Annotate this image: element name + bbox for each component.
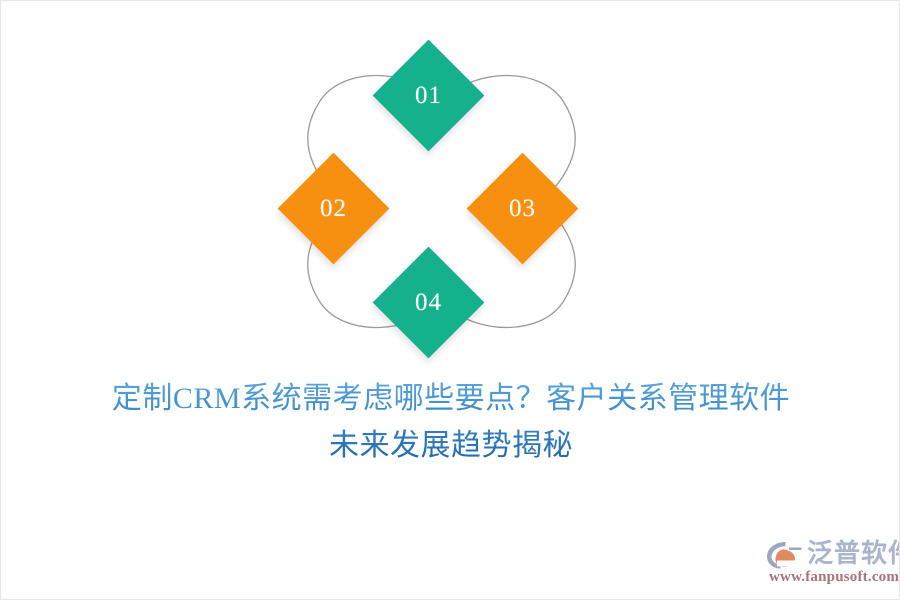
diamond-node-04-label: 04 (415, 290, 442, 315)
logo-brand-name: 泛普软件 (807, 537, 900, 569)
logo-url: www.fanpusoft.com (769, 569, 899, 586)
watermark-logo: 泛普软件 www.fanpusoft.com (763, 535, 895, 589)
diamond-node-03-label: 03 (509, 196, 536, 221)
page-title-line-1: 定制CRM系统需考虑哪些要点？客户关系管理软件 (1, 375, 900, 422)
page-title: 定制CRM系统需考虑哪些要点？客户关系管理软件 未来发展趋势揭秘 (1, 375, 900, 469)
four-step-diamond-infographic: 01 02 03 04 (279, 39, 604, 364)
logo-mask-bar (777, 561, 796, 567)
page-canvas: 01 02 03 04 定制CRM系统需考虑哪些要点？客户关系管理软件 未来发展… (0, 0, 900, 600)
diamond-node-01-label: 01 (415, 83, 442, 108)
fanpu-swoosh-logo-icon (765, 539, 805, 571)
logo-bar-top (789, 548, 802, 551)
page-title-line-2: 未来发展趋势揭秘 (1, 422, 900, 469)
diamond-node-02-label: 02 (320, 196, 347, 221)
